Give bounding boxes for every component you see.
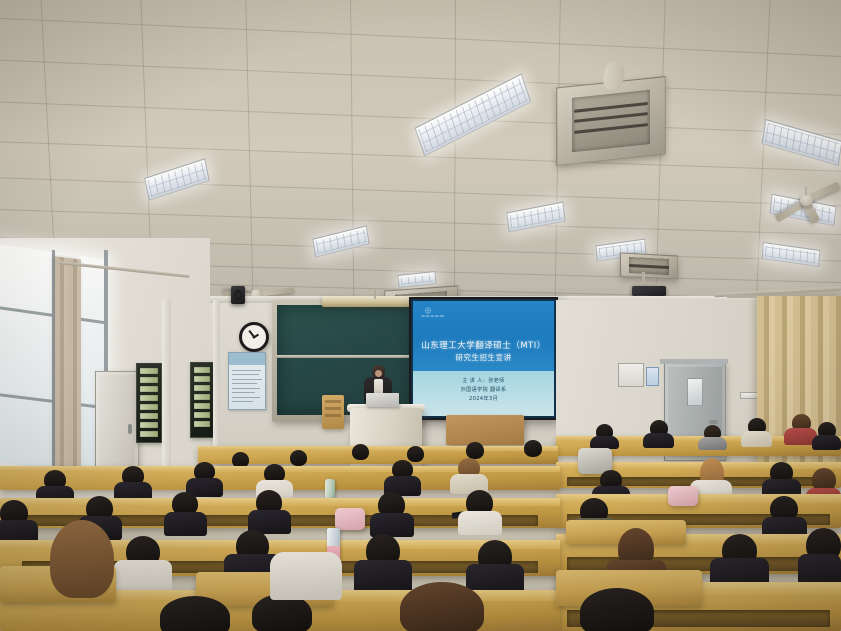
slide-title-line-1: 山东理工大学翻译硕士（MTI） <box>413 339 554 351</box>
pink-bag <box>668 486 698 506</box>
student-head-foreground <box>400 582 484 631</box>
student-head-foreground <box>580 588 654 631</box>
door-frame-gray <box>660 359 728 364</box>
student-head <box>524 440 542 457</box>
lecture-hall-photo: 山东理工大学翻译硕士（MTI） 研究生招生宣讲 主 讲 人：张老师 外国语学院 … <box>0 0 841 631</box>
clock-center-pin <box>253 336 256 339</box>
university-emblem <box>420 306 450 323</box>
projection-screen: 山东理工大学翻译硕士（MTI） 研究生招生宣讲 主 讲 人：张老师 外国语学院 … <box>409 297 558 420</box>
slide-subtitle-line-2: 外国语学院 翻译系 <box>413 386 554 393</box>
student-head <box>407 446 424 462</box>
student-head <box>352 444 369 460</box>
wall-speaker <box>231 286 245 304</box>
blue-notice <box>646 367 659 386</box>
student-body <box>643 433 674 448</box>
wall-notice-panel-right <box>190 362 214 438</box>
board-lamp-arm <box>374 290 376 299</box>
beige-curtain[interactable] <box>55 256 81 469</box>
white-door[interactable] <box>95 371 139 479</box>
student-body <box>458 511 502 535</box>
student-body <box>164 512 207 536</box>
chalk-tray-rail <box>276 355 418 358</box>
student-head <box>290 450 307 466</box>
wooden-chair[interactable] <box>322 395 344 429</box>
wall-pillar-mid <box>213 300 220 470</box>
student-head <box>466 442 484 459</box>
wall-clock <box>239 322 269 352</box>
curtain-track-bracket <box>727 295 757 298</box>
wall-pillar-left <box>162 300 171 480</box>
student-body-foreground <box>270 552 342 600</box>
student-body <box>370 513 414 537</box>
pink-bag <box>335 508 365 530</box>
student-body <box>698 437 727 450</box>
student-body <box>741 431 772 447</box>
wall-notice-panel-left <box>136 363 162 443</box>
wall-poster <box>228 352 266 410</box>
slide-title-line-2: 研究生招生宣讲 <box>413 352 554 363</box>
student-head-foreground <box>50 520 114 598</box>
presenter-face <box>375 370 382 377</box>
ceiling-fan-right <box>772 172 840 228</box>
slide-subtitle-line-1: 主 讲 人：张老师 <box>413 377 554 384</box>
student-body <box>812 435 841 450</box>
student-head-foreground <box>160 596 230 631</box>
front-table <box>446 415 524 445</box>
wall-sign <box>618 363 644 387</box>
desk-row-a-left <box>198 446 558 464</box>
slide-subtitle-line-3: 2024年3月 <box>413 395 554 402</box>
presentation-slide: 山东理工大学翻译硕士（MTI） 研究生招生宣讲 主 讲 人：张老师 外国语学院 … <box>413 301 554 416</box>
presenter-laptop[interactable] <box>366 393 399 407</box>
